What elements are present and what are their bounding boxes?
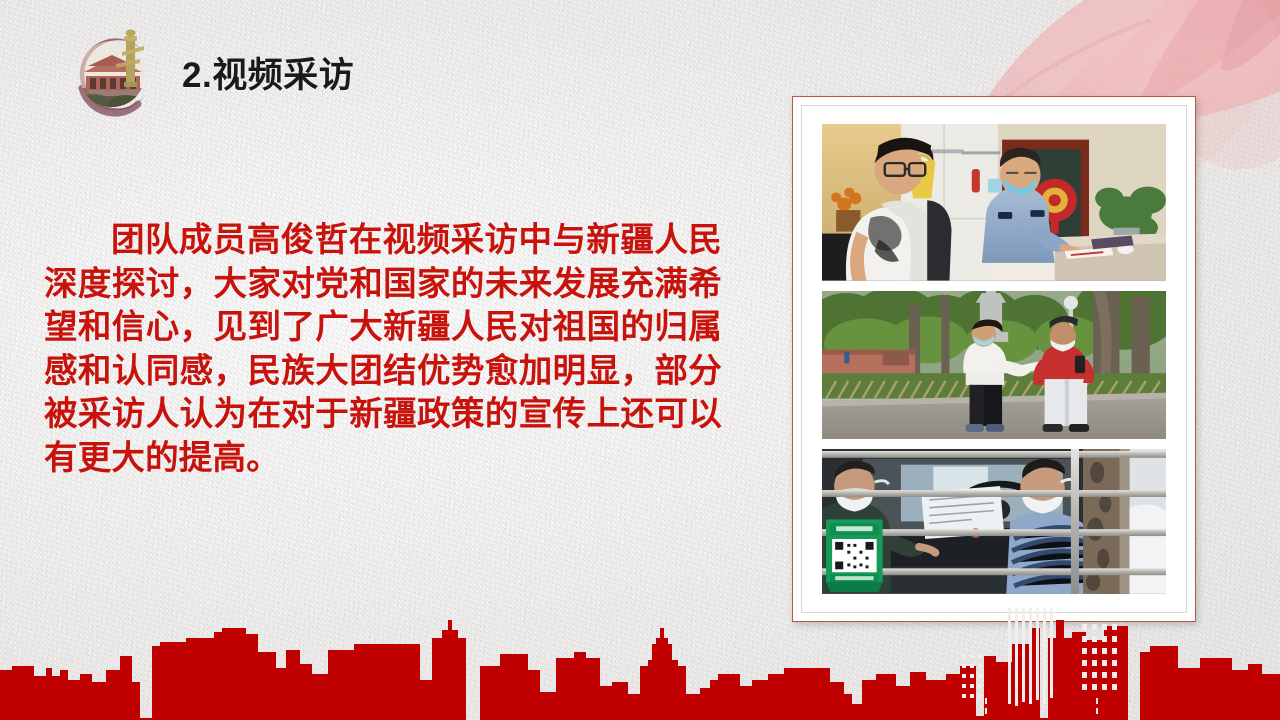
page-title: 2.视频采访 <box>182 58 354 93</box>
photo-1-indoor-police-interview <box>822 124 1166 281</box>
slide-header: 2.视频采访 <box>64 22 354 122</box>
photo-2-outdoor-park-interview <box>822 291 1166 440</box>
video-interview-photo-frame <box>792 96 1196 622</box>
body-paragraph: 团队成员高俊哲在视频采访中与新疆人民深度探讨，大家对党和国家的未来发展充满希望和… <box>44 218 722 479</box>
city-skyline-silhouette <box>0 608 1280 720</box>
photo-frame-inner <box>801 105 1187 613</box>
slide-canvas: 2.视频采访 团队成员高俊哲在视频采访中与新疆人民深度探讨，大家对党和国家的未来… <box>0 0 1280 720</box>
tiananmen-circle-emblem-icon <box>64 22 164 122</box>
photo-3-vehicle-survey-interview <box>822 449 1166 594</box>
